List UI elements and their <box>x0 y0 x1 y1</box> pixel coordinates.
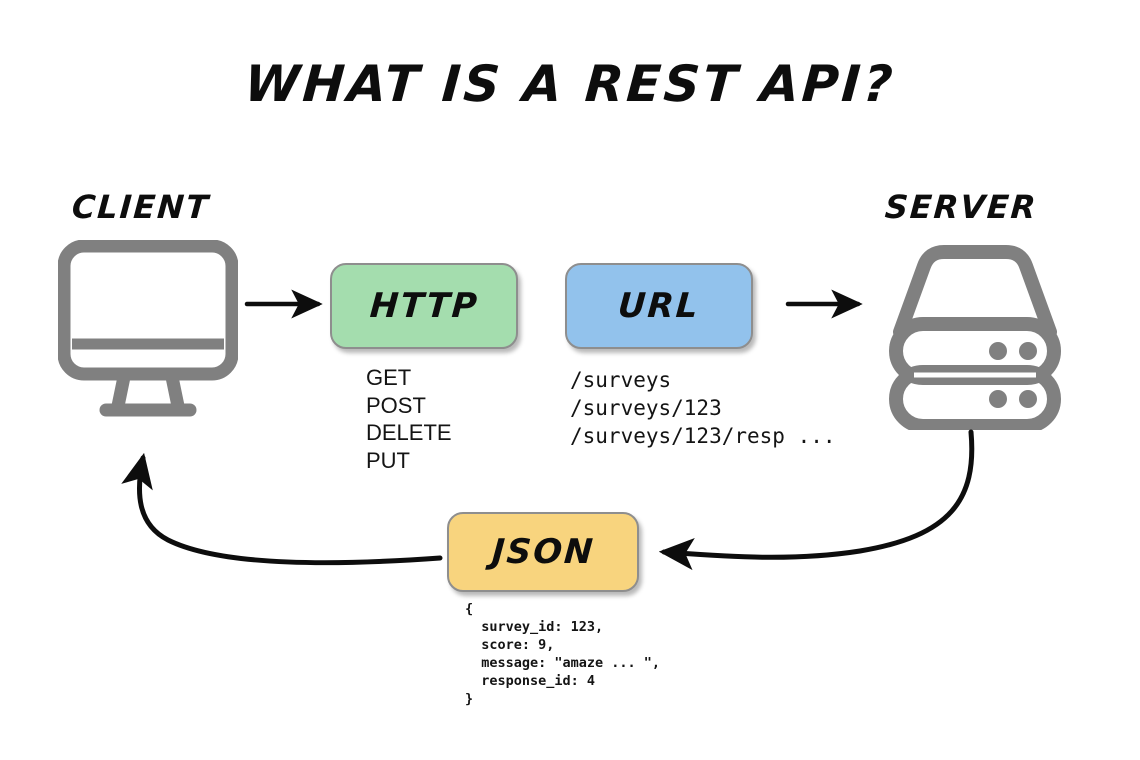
json-box-label: JSON <box>490 534 595 570</box>
url-box-label: URL <box>617 288 701 324</box>
url-paths-list: /surveys /surveys/123 /surveys/123/resp … <box>570 366 836 450</box>
monitor-icon <box>58 240 238 420</box>
server-label: SERVER <box>884 188 1039 226</box>
page-title: WHAT IS A REST API? <box>0 54 1140 114</box>
server-to-json-arrow <box>664 432 972 557</box>
json-box[interactable]: JSON <box>447 512 639 592</box>
client-label: CLIENT <box>71 188 211 226</box>
http-box-label: HTTP <box>368 288 479 324</box>
json-body-code: { survey_id: 123, score: 9, message: "am… <box>465 600 660 708</box>
rest-api-diagram: WHAT IS A REST API? CLIENT SERVER HTTP G… <box>0 0 1140 760</box>
http-methods-list: GET POST DELETE PUT <box>366 364 452 474</box>
url-box[interactable]: URL <box>565 263 753 349</box>
server-rack-icon <box>880 240 1070 430</box>
http-box[interactable]: HTTP <box>330 263 518 349</box>
